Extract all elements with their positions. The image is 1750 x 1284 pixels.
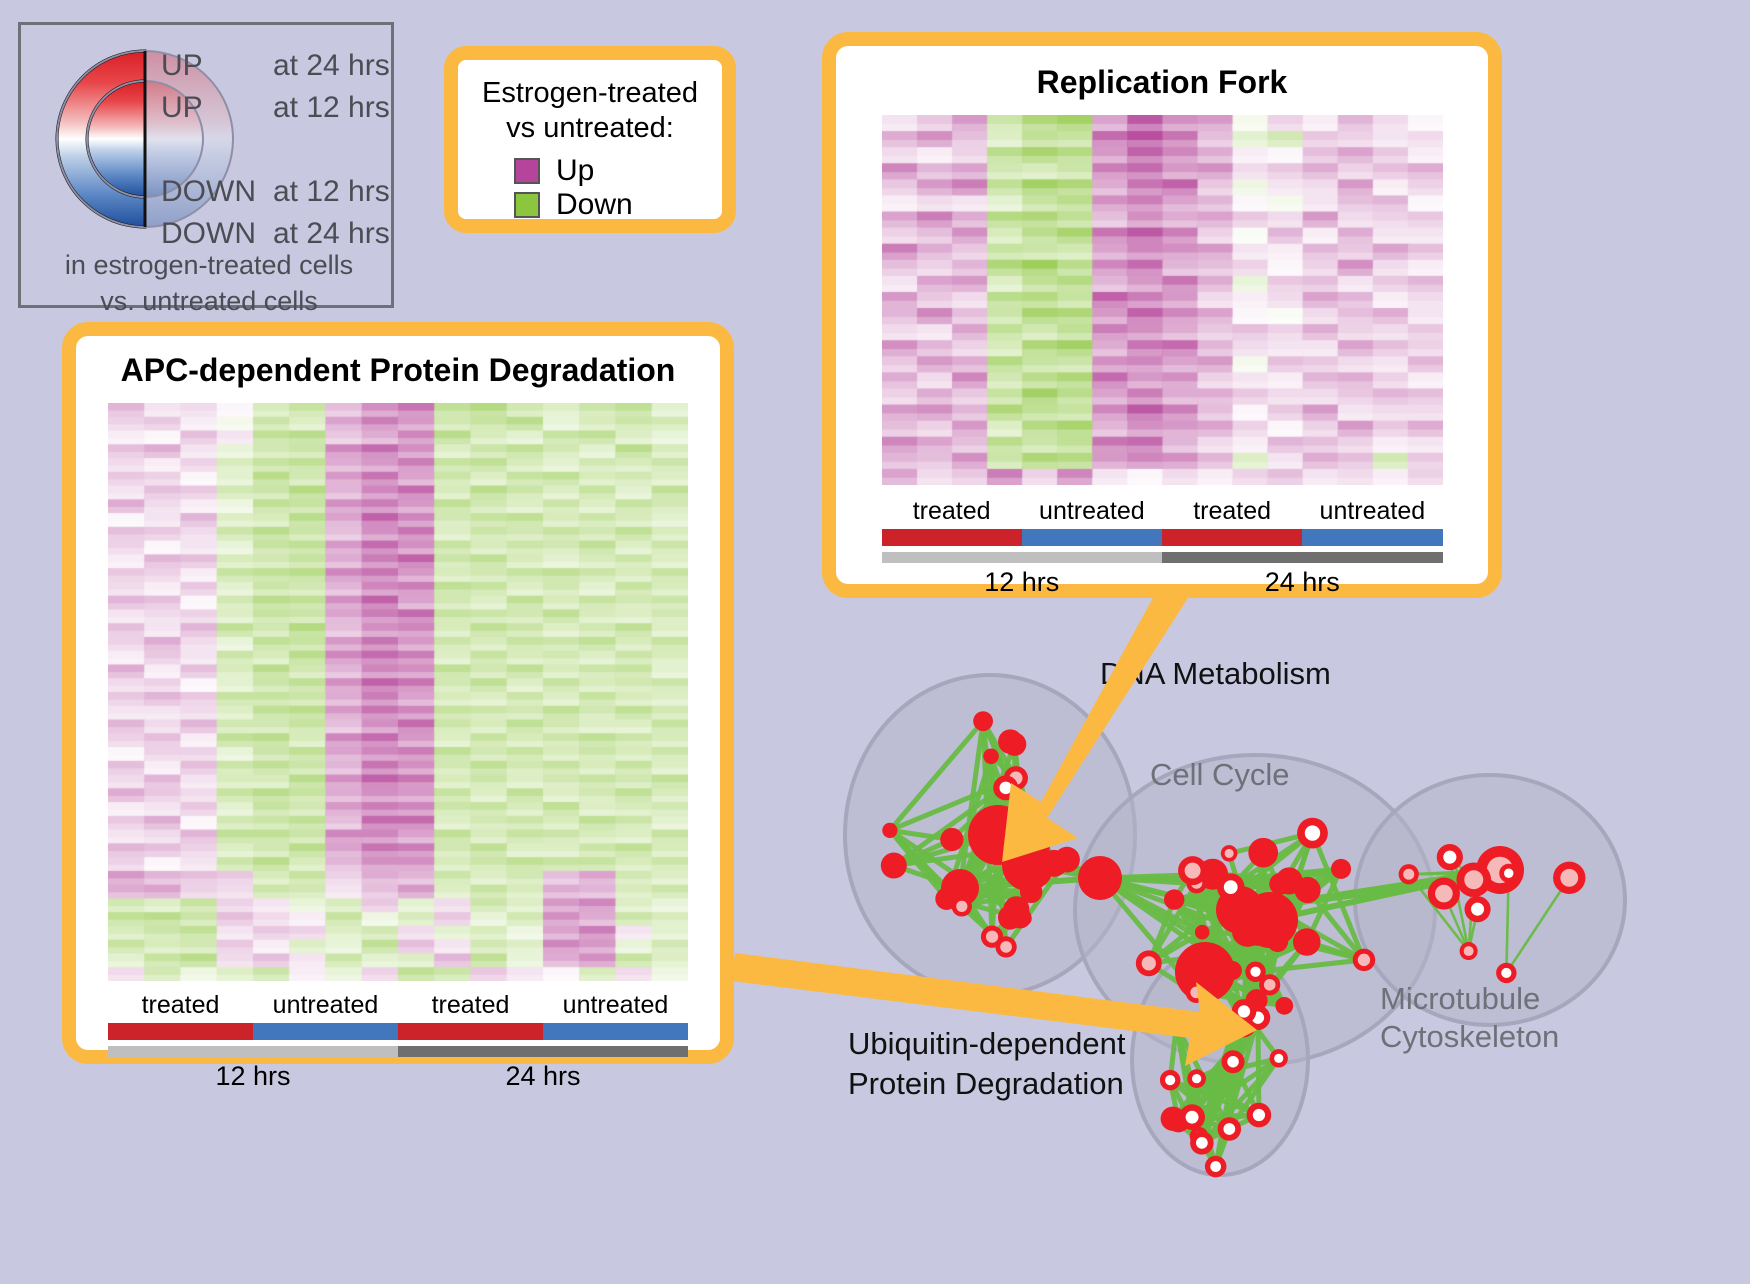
time-color-bar [108, 1046, 688, 1057]
network-node[interactable] [1353, 949, 1376, 972]
legend-item-label: Down [556, 188, 633, 222]
treatment-label: untreated [1302, 497, 1442, 526]
cluster-label-cell-cycle: Cell Cycle [1150, 757, 1290, 793]
network-node[interactable] [1178, 856, 1207, 885]
replication-fork-axis: treated untreated treated untreated 12 h… [882, 497, 1443, 598]
network-node[interactable] [1195, 925, 1210, 940]
network-node[interactable] [1499, 864, 1518, 883]
network-node[interactable] [973, 711, 993, 731]
cluster-label-microtubule-cytoskeleton: Microtubule Cytoskeleton [1380, 980, 1559, 1056]
treated-bar-12 [882, 529, 1022, 546]
network-node[interactable] [940, 828, 963, 851]
key-row-up-12: UP at 12 hrs [161, 91, 393, 133]
network-node[interactable] [1232, 999, 1257, 1024]
network-node[interactable] [983, 749, 999, 765]
treated-bar-12 [108, 1023, 253, 1040]
time-label: 24 hrs [1162, 567, 1443, 598]
network-node[interactable] [1437, 844, 1463, 870]
untreated-bar-24 [543, 1023, 688, 1040]
cluster-label-dna-metabolism: DNA Metabolism [1100, 656, 1331, 692]
untreated-bar-12 [1022, 529, 1162, 546]
key-time: at 24 hrs [273, 217, 390, 251]
figure-stage: UP at 24 hrs UP at 12 hrs DOWN at 12 hrs… [0, 0, 1750, 1279]
treatment-label: treated [398, 991, 543, 1020]
time-label-row: 12 hrs 24 hrs [108, 1061, 688, 1092]
key-row-up-24: UP at 24 hrs [161, 49, 393, 91]
time-bar-24hrs [1162, 552, 1443, 563]
key-row-list: UP at 24 hrs UP at 12 hrs DOWN at 12 hrs… [161, 49, 393, 259]
network-node[interactable] [1297, 818, 1328, 849]
legend-item-up: Up [514, 154, 722, 188]
down-swatch-icon [514, 192, 540, 218]
network-node[interactable] [1161, 1107, 1185, 1131]
time-bar-24hrs [398, 1046, 688, 1057]
network-node[interactable] [1136, 950, 1162, 976]
key-direction: DOWN [161, 217, 273, 251]
page-title: Replication Fork [836, 46, 1488, 101]
key-time: at 12 hrs [273, 91, 390, 125]
apc-heatmap [108, 403, 688, 981]
network-node[interactable] [1293, 928, 1321, 956]
key-time: at 24 hrs [273, 49, 390, 83]
gradient-key-box: UP at 24 hrs UP at 12 hrs DOWN at 12 hrs… [18, 22, 394, 308]
pathway-network-diagram: DNA Metabolism Cell Cycle Microtubule Cy… [800, 620, 1750, 1279]
cluster-label-ubiquitin-protein-degradation: Ubiquitin-dependent Protein Degradation [848, 1024, 1126, 1104]
key-row-down-12: DOWN at 12 hrs [161, 175, 393, 217]
treated-bar-24 [398, 1023, 543, 1040]
network-node[interactable] [935, 888, 957, 910]
key-direction: DOWN [161, 175, 273, 209]
network-node[interactable] [1331, 859, 1351, 879]
network-node[interactable] [1276, 867, 1303, 894]
treated-bar-24 [1162, 529, 1302, 546]
legend-item-list: Up Down [458, 154, 722, 222]
time-label-row: 12 hrs 24 hrs [882, 567, 1443, 598]
network-node[interactable] [995, 936, 1016, 957]
treatment-label: untreated [1022, 497, 1162, 526]
network-node[interactable] [1553, 862, 1585, 894]
page-title: APC-dependent Protein Degradation [76, 336, 720, 389]
network-node[interactable] [1464, 896, 1490, 922]
network-node[interactable] [1166, 1015, 1186, 1035]
network-node[interactable] [1267, 931, 1288, 952]
key-direction: UP [161, 49, 273, 83]
network-node[interactable] [1232, 916, 1263, 947]
network-node[interactable] [1460, 942, 1478, 960]
network-node[interactable] [1078, 856, 1122, 900]
legend-item-label: Up [556, 154, 594, 188]
up-down-legend-panel: Estrogen-treated vs untreated: Up Down [444, 46, 736, 233]
network-node[interactable] [1399, 864, 1419, 884]
network-node[interactable] [1054, 847, 1080, 873]
key-caption-line2: vs. untreated cells [21, 283, 397, 319]
legend-item-down: Down [514, 188, 722, 222]
apc-axis: treated untreated treated untreated 12 h… [108, 991, 688, 1092]
time-label: 12 hrs [882, 567, 1163, 598]
time-bar-12hrs [108, 1046, 398, 1057]
legend-title-line1: Estrogen-treated [458, 76, 722, 111]
network-node[interactable] [1205, 1156, 1227, 1178]
key-time: at 12 hrs [273, 175, 390, 209]
network-node[interactable] [1222, 1050, 1245, 1073]
network-graph [800, 620, 1750, 1279]
treatment-color-bar [108, 1023, 688, 1040]
legend-title-line2: vs untreated: [458, 111, 722, 146]
network-node[interactable] [993, 775, 1018, 800]
network-node[interactable] [1190, 1131, 1214, 1155]
network-node[interactable] [1187, 1069, 1206, 1088]
treatment-label: treated [882, 497, 1022, 526]
network-node[interactable] [881, 853, 907, 879]
network-node[interactable] [1270, 1049, 1288, 1067]
treatment-label-row: treated untreated treated untreated [882, 497, 1443, 526]
treatment-label-row: treated untreated treated untreated [108, 991, 688, 1020]
treatment-label: untreated [543, 991, 688, 1020]
network-node[interactable] [1207, 959, 1228, 980]
replication-fork-panel: Replication Fork treated untreated treat… [822, 32, 1502, 598]
network-node[interactable] [1221, 845, 1238, 862]
untreated-bar-24 [1302, 529, 1442, 546]
network-node[interactable] [1248, 838, 1278, 868]
network-node[interactable] [1003, 732, 1026, 755]
network-node[interactable] [1218, 1117, 1242, 1141]
time-color-bar [882, 552, 1443, 563]
time-label: 24 hrs [398, 1061, 688, 1092]
key-caption-line1: in estrogen-treated cells [21, 247, 397, 283]
key-caption: in estrogen-treated cells vs. untreated … [21, 247, 397, 319]
network-node[interactable] [1023, 832, 1050, 859]
network-node[interactable] [1186, 982, 1207, 1003]
treatment-label: treated [1162, 497, 1302, 526]
key-direction: UP [161, 91, 273, 125]
network-node[interactable] [1217, 873, 1245, 901]
network-node[interactable] [882, 823, 897, 838]
treatment-label: untreated [253, 991, 398, 1020]
network-node[interactable] [1160, 1070, 1181, 1091]
treatment-color-bar [882, 529, 1443, 546]
network-node[interactable] [1428, 878, 1460, 910]
legend-title: Estrogen-treated vs untreated: [458, 60, 722, 146]
network-node[interactable] [1247, 1103, 1272, 1128]
network-node[interactable] [998, 905, 1022, 929]
network-node[interactable] [1275, 997, 1293, 1015]
network-node[interactable] [1020, 881, 1042, 903]
time-bar-12hrs [882, 552, 1163, 563]
network-node[interactable] [1164, 889, 1184, 909]
untreated-bar-12 [253, 1023, 398, 1040]
network-node[interactable] [1456, 862, 1491, 897]
time-label: 12 hrs [108, 1061, 398, 1092]
replication-fork-heatmap [882, 115, 1443, 485]
treatment-label: treated [108, 991, 253, 1020]
up-swatch-icon [514, 158, 540, 184]
apc-protein-degradation-panel: APC-dependent Protein Degradation treate… [62, 322, 734, 1064]
